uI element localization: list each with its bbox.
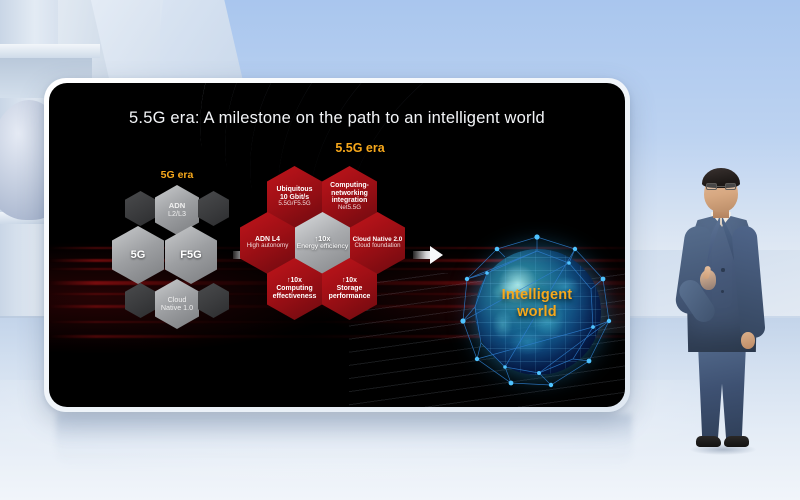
presenter-trousers [696,346,748,440]
presenter-jacket-button-lower [721,290,724,293]
hex-ce-line2: Computing [276,285,312,293]
presenter [676,168,768,453]
presentation-screen-frame: 5.5G era: A milestone on the path to an … [44,78,630,412]
hex-adn-l4-sub: High autonomy [247,243,289,250]
studio-stage: 5.5G era: A milestone on the path to an … [0,0,800,500]
presenter-hand-right [741,332,755,349]
screen-floor-reflection [56,414,632,468]
globe-caption: Intelligent world [453,287,621,320]
presenter-shoe-right [724,436,749,447]
intelligent-world-globe[interactable]: Intelligent world [453,233,621,401]
hex-sp-title: ↑10x [342,277,357,285]
backdrop-ledge-top [0,44,100,58]
presenter-jacket-button [721,268,725,272]
hex-cni-title: Computing- [330,182,369,190]
hex-cloud-native-1-sub: Native 1.0 [161,304,193,312]
presentation-screen[interactable]: 5.5G era: A milestone on the path to an … [49,83,625,407]
hex-adn-sub: L2/L3 [168,210,186,218]
hex-cni-sub: Net5.5G [338,205,361,212]
hex-f5g-label: F5G [180,249,201,261]
globe-caption-line2: world [453,304,621,321]
slide-title: 5.5G era: A milestone on the path to an … [49,109,625,128]
era-label-5-5g: 5.5G era [305,141,415,155]
hex-sp-line2: Storage [337,285,363,293]
presenter-glasses-icon [706,183,736,190]
hex-cn2-sub: Cloud foundation [354,243,400,250]
hex-cni-line2: networking [331,190,368,198]
hex-energy-sub: Energy efficiency [297,243,349,251]
hex-ce-title: ↑10x [287,277,302,285]
globe-caption-line1: Intelligent [453,287,621,304]
era-label-5g: 5G era [137,169,217,181]
arrow-55g-to-globe-icon [413,246,443,264]
hex-ce-sub: effectiveness [273,293,317,301]
hex-ubiquitous-title: Ubiquitous [277,186,313,194]
hex-5g-label: 5G [131,249,146,261]
hex-ubiquitous-sub: 5.5G/F5.5G [278,201,310,208]
presenter-shoe-left [696,436,721,447]
hex-sp-sub: performance [329,293,371,301]
